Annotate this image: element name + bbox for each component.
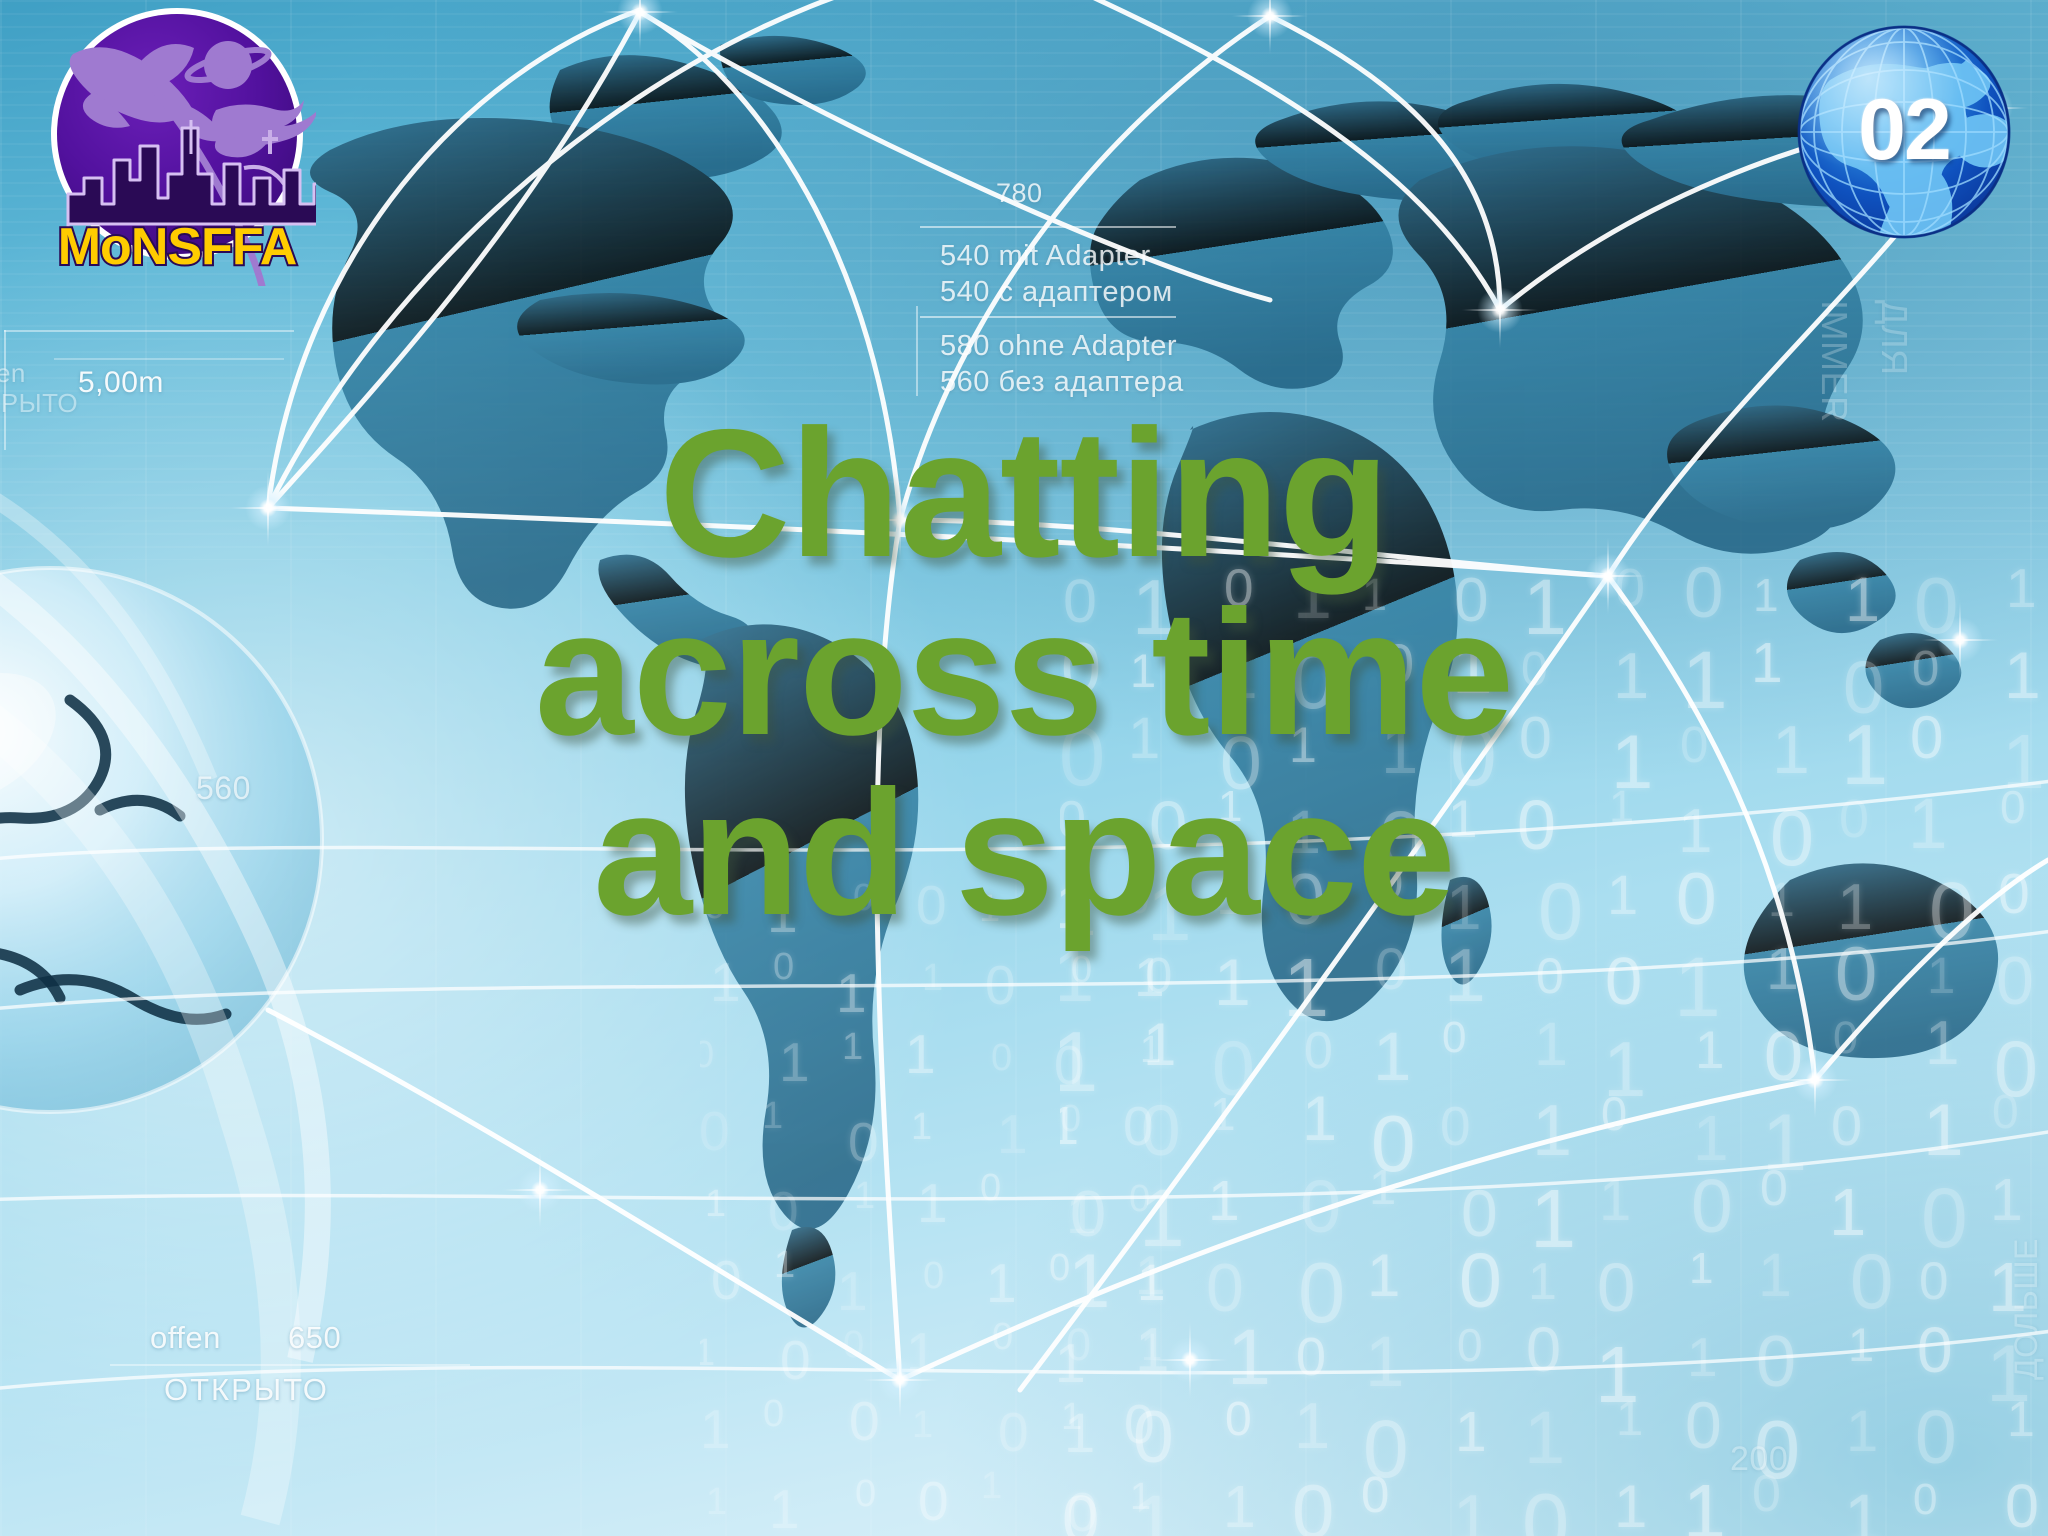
monsffa-logo[interactable]: MoNSFFA — [38, 8, 316, 286]
monsffa-logo-graphic: MoNSFFA — [38, 8, 316, 286]
presentation-slide: 0101101001101011001011100101011001011010… — [0, 0, 2048, 1536]
monsffa-wordmark: MoNSFFA — [58, 218, 297, 276]
slide-number-label: 02 — [1790, 18, 2018, 246]
slide-number-badge[interactable]: 02 — [1790, 18, 2018, 246]
